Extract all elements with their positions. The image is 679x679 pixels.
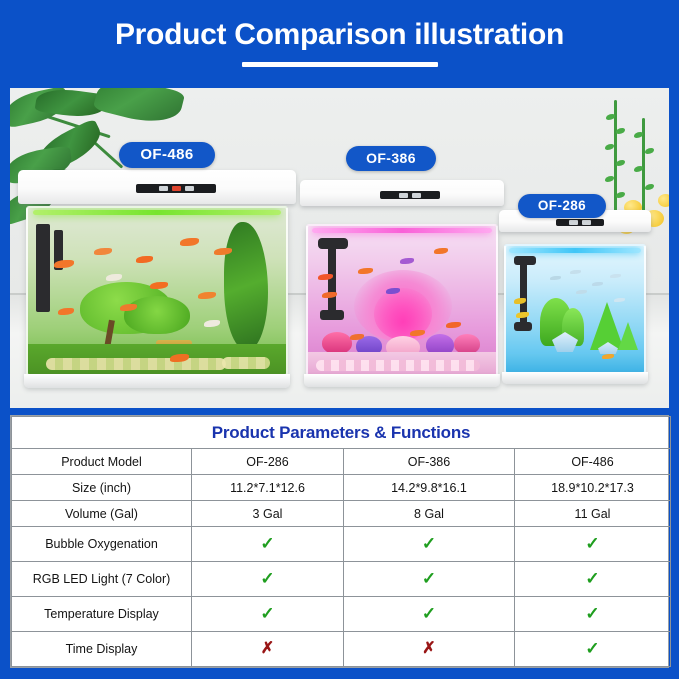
row-label: Time Display xyxy=(12,632,192,667)
row-label: Product Model xyxy=(12,449,192,475)
cross-icon: ✗ xyxy=(261,640,274,657)
comparison-table: Product Parameters & Functions Product M… xyxy=(11,416,671,667)
cell-of-486: ✓ xyxy=(515,527,671,562)
cell-of-286: 3 Gal xyxy=(192,501,344,527)
row-label: Bubble Oxygenation xyxy=(12,527,192,562)
comparison-table-container: Product Parameters & Functions Product M… xyxy=(10,415,669,668)
tank-display-panel-of-386 xyxy=(380,191,440,199)
row-label: Temperature Display xyxy=(12,597,192,632)
led-light-bar-of-486 xyxy=(33,210,281,215)
check-icon: ✓ xyxy=(422,534,436,553)
tank-substrate-of-286 xyxy=(506,354,644,372)
row-label: Size (inch) xyxy=(12,475,192,501)
cell-of-486: ✓ xyxy=(515,562,671,597)
cell-of-286: ✓ xyxy=(192,527,344,562)
table-row: Volume (Gal) 3 Gal 8 Gal 11 Gal xyxy=(12,501,671,527)
check-icon: ✓ xyxy=(260,604,274,623)
tank-display-panel-of-286 xyxy=(556,219,604,226)
table-row: Size (inch) 11.2*7.1*12.6 14.2*9.8*16.1 … xyxy=(12,475,671,501)
table-title-row: Product Parameters & Functions xyxy=(12,417,671,449)
aquarium-of-486 xyxy=(26,170,288,388)
cell-of-486: 18.9*10.2*17.3 xyxy=(515,475,671,501)
cell-of-286: ✗ xyxy=(192,632,344,667)
check-icon: ✓ xyxy=(585,534,599,553)
check-icon: ✓ xyxy=(585,604,599,623)
table-row: Product Model OF-286 OF-386 OF-486 xyxy=(12,449,671,475)
cell-of-486: ✓ xyxy=(515,632,671,667)
cell-of-486: 11 Gal xyxy=(515,501,671,527)
cell-of-386: 14.2*9.8*16.1 xyxy=(344,475,515,501)
infographic-page: Product Comparison illustration xyxy=(0,0,679,679)
table-row: Temperature Display ✓ ✓ ✓ xyxy=(12,597,671,632)
cell-of-486: OF-486 xyxy=(515,449,671,475)
tank-base-of-286 xyxy=(502,372,648,384)
header-area: Product Comparison illustration xyxy=(0,0,679,88)
table-title: Product Parameters & Functions xyxy=(12,417,671,449)
product-photo: OF-486 OF-386 OF-286 xyxy=(10,88,669,408)
check-icon: ✓ xyxy=(422,604,436,623)
row-label: RGB LED Light (7 Color) xyxy=(12,562,192,597)
led-light-bar-of-286 xyxy=(509,248,641,253)
cell-of-386: OF-386 xyxy=(344,449,515,475)
cell-of-286: OF-286 xyxy=(192,449,344,475)
model-badge-of-286: OF-286 xyxy=(518,194,606,218)
cell-of-386: ✗ xyxy=(344,632,515,667)
tank-glass-of-486 xyxy=(26,206,288,376)
check-icon: ✓ xyxy=(260,569,274,588)
row-label: Volume (Gal) xyxy=(12,501,192,527)
aquarium-of-286 xyxy=(504,210,646,388)
check-icon: ✓ xyxy=(585,569,599,588)
cell-of-386: ✓ xyxy=(344,562,515,597)
model-badge-of-386: OF-386 xyxy=(346,146,436,171)
cross-icon: ✗ xyxy=(422,640,435,657)
led-light-bar-of-386 xyxy=(312,228,492,233)
tank-base-of-386 xyxy=(304,374,500,387)
cell-of-386: 8 Gal xyxy=(344,501,515,527)
cell-of-286: ✓ xyxy=(192,597,344,632)
table-row: RGB LED Light (7 Color) ✓ ✓ ✓ xyxy=(12,562,671,597)
cell-of-386: ✓ xyxy=(344,527,515,562)
tank-base-of-486 xyxy=(24,374,290,388)
cell-of-486: ✓ xyxy=(515,597,671,632)
cell-of-286: 11.2*7.1*12.6 xyxy=(192,475,344,501)
model-badge-of-486: OF-486 xyxy=(119,142,215,168)
check-icon: ✓ xyxy=(585,639,599,658)
cell-of-386: ✓ xyxy=(344,597,515,632)
tank-glass-of-286 xyxy=(504,244,646,374)
tank-display-panel-of-486 xyxy=(136,184,216,193)
check-icon: ✓ xyxy=(422,569,436,588)
table-row: Bubble Oxygenation ✓ ✓ ✓ xyxy=(12,527,671,562)
table-row: Time Display ✗ ✗ ✓ xyxy=(12,632,671,667)
title-underline-rule xyxy=(242,62,438,67)
tank-glass-of-386 xyxy=(306,224,498,376)
page-title: Product Comparison illustration xyxy=(115,18,564,52)
aquarium-of-386 xyxy=(306,180,498,388)
check-icon: ✓ xyxy=(260,534,274,553)
cell-of-286: ✓ xyxy=(192,562,344,597)
